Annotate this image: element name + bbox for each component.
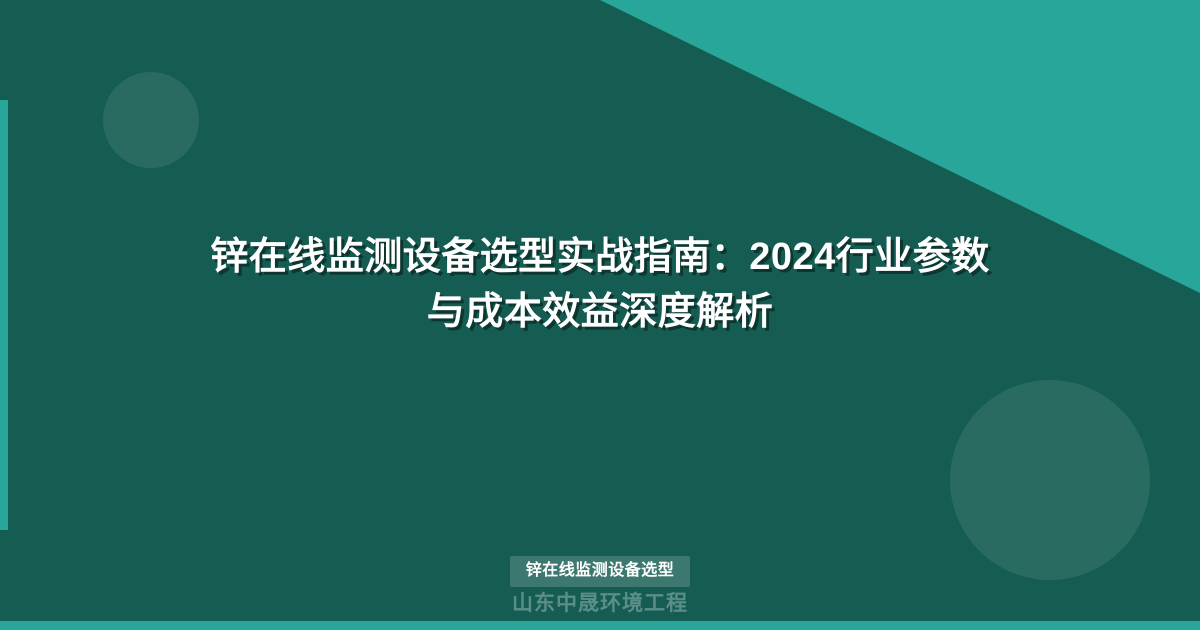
- title-block: 锌在线监测设备选型实战指南：2024行业参数 与成本效益深度解析: [0, 0, 1200, 630]
- topic-tag-badge: 锌在线监测设备选型: [510, 556, 691, 587]
- bottom-accent-band: [0, 621, 1200, 630]
- page-title: 锌在线监测设备选型实战指南：2024行业参数 与成本效益深度解析: [190, 230, 1010, 340]
- footer-block: 锌在线监测设备选型 山东中晟环境工程: [0, 556, 1200, 618]
- brand-name: 山东中晟环境工程: [512, 593, 688, 618]
- poster-canvas: 锌在线监测设备选型实战指南：2024行业参数 与成本效益深度解析 锌在线监测设备…: [0, 0, 1200, 630]
